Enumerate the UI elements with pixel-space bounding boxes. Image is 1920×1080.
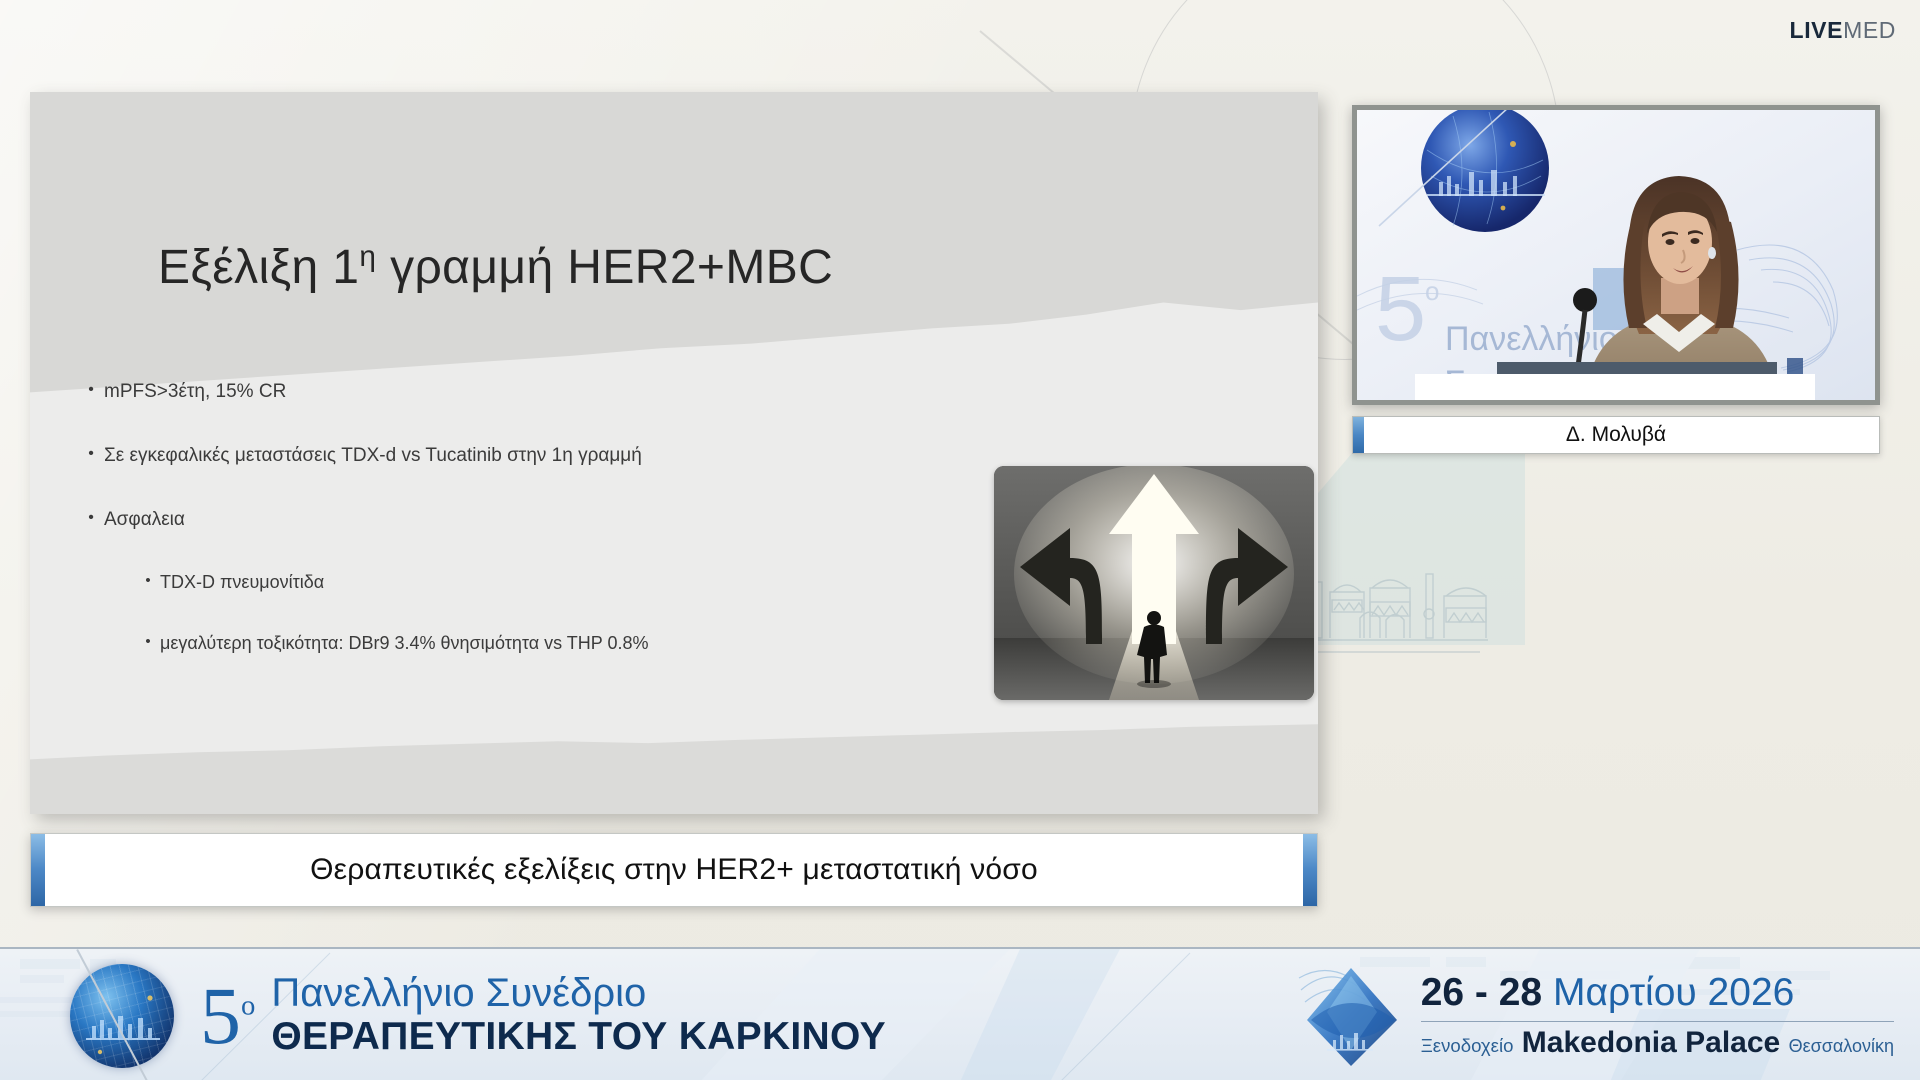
banner-date-month-year: Μαρτίου 2026: [1553, 971, 1794, 1014]
sub-bullet-text: TDX-D πνευμονίτιδα: [160, 571, 324, 594]
three-arrows-choice-photo: [994, 466, 1314, 700]
bullet-marker: •: [78, 508, 104, 529]
banner-venue: Ξενοδοχείο Makedonia Palace Θεσσαλονίκη: [1421, 1027, 1894, 1059]
slide-title: Εξέλιξη 1η γραμμή HER2+MBC: [158, 240, 833, 295]
diamond-wave-icon: [1297, 962, 1405, 1070]
banner-venue-prefix: Ξενοδοχείο: [1421, 1035, 1514, 1056]
speaker-video-still: 5 o Πανελλήνιο Συνέδριο: [1357, 110, 1875, 400]
banner-dates: 26 - 28 Μαρτίου 2026: [1421, 972, 1894, 1015]
banner-line-1: Πανελλήνιο Συνέδριο: [271, 972, 886, 1014]
bullet-text: Σε εγκεφαλικές μεταστάσεις TDX-d vs Tuca…: [104, 444, 642, 468]
speaker-nameplate: Δ. Μολυβά: [1352, 416, 1880, 454]
banner-ordinal: 5o: [200, 977, 255, 1055]
banner-venue-city: Θεσσαλονίκη: [1789, 1036, 1894, 1056]
bullet-text: mPFS>3έτη, 15% CR: [104, 380, 286, 404]
slide-footer-torn-band: [30, 684, 1318, 814]
banner-left-group: 5o Πανελλήνιο Συνέδριο ΘΕΡΑΠΕΥΤΙΚΗΣ ΤΟΥ …: [70, 949, 886, 1080]
bullet-item: • Σε εγκεφαλικές μεταστάσεις TDX-d vs Tu…: [78, 444, 848, 468]
bullet-marker: •: [78, 444, 104, 465]
presentation-slide[interactable]: Εξέλιξη 1η γραμμή HER2+MBC • mPFS>3έτη, …: [30, 92, 1318, 814]
bullet-item: • mPFS>3έτη, 15% CR: [78, 380, 848, 404]
banner-text-block: Πανελλήνιο Συνέδριο ΘΕΡΑΠΕΥΤΙΚΗΣ ΤΟΥ ΚΑΡ…: [271, 972, 886, 1059]
banner-date-venue-block: 26 - 28 Μαρτίου 2026 Ξενοδοχείο Makedoni…: [1421, 972, 1894, 1058]
sub-bullet-item: • μεγαλύτερη τοξικότητα: DBr9 3.4% θνησι…: [136, 632, 848, 655]
speaker-video-panel[interactable]: 5 o Πανελλήνιο Συνέδριο: [1352, 105, 1880, 405]
speaker-video-frame[interactable]: 5 o Πανελλήνιο Συνέδριο: [1357, 110, 1875, 400]
banner-venue-name: Makedonia Palace: [1522, 1026, 1780, 1059]
bullet-marker: •: [136, 571, 160, 591]
banner-ordinal-superscript: o: [241, 989, 255, 1021]
banner-ordinal-number: 5: [200, 970, 241, 1061]
conference-banner: 5o Πανελλήνιο Συνέδριο ΘΕΡΑΠΕΥΤΙΚΗΣ ΤΟΥ …: [0, 947, 1920, 1080]
session-title-bar: Θεραπευτικές εξελίξεις στην HER2+ μεταστ…: [30, 833, 1318, 907]
svg-text:Πανελλήνιο: Πανελλήνιο: [1445, 320, 1618, 358]
banner-line-2: ΘΕΡΑΠΕΥΤΙΚΗΣ ΤΟΥ ΚΑΡΚΙΝΟΥ: [271, 1016, 886, 1059]
sub-bullet-item: • TDX-D πνευμονίτιδα: [136, 571, 848, 594]
slide-bullet-list: • mPFS>3έτη, 15% CR • Σε εγκεφαλικές μετ…: [78, 380, 848, 692]
slide-title-superscript: η: [359, 240, 376, 273]
slide-title-part1: Εξέλιξη 1: [158, 241, 359, 294]
banner-divider: [1421, 1021, 1894, 1022]
globe-detail-icon: [70, 964, 174, 1068]
svg-text:o: o: [1425, 276, 1439, 306]
three-arrows-illustration: [994, 466, 1314, 700]
bullet-text: Ασφαλεια: [104, 508, 185, 532]
bullet-marker: •: [136, 632, 160, 652]
banner-right-group: 26 - 28 Μαρτίου 2026 Ξενοδοχείο Makedoni…: [1297, 949, 1894, 1080]
slide-title-part2: γραμμή HER2+MBC: [376, 241, 833, 294]
bullet-item: • Ασφαλεια: [78, 508, 848, 532]
bullet-marker: •: [78, 380, 104, 401]
banner-diamond-logo: [1297, 962, 1405, 1070]
skyline-watermark-icon: [1300, 552, 1560, 672]
speaker-name: Δ. Μολυβά: [1566, 423, 1666, 447]
livemed-logo: LIVEMED: [1790, 17, 1896, 44]
session-title-text: Θεραπευτικές εξελίξεις στην HER2+ μεταστ…: [310, 853, 1038, 887]
livemed-logo-med: MED: [1843, 17, 1896, 44]
sub-bullet-text: μεγαλύτερη τοξικότητα: DBr9 3.4% θνησιμό…: [160, 632, 649, 655]
svg-text:5: 5: [1375, 258, 1426, 360]
banner-date-days: 26 - 28: [1421, 971, 1542, 1014]
conference-globe-logo: [70, 964, 174, 1068]
livemed-logo-live: LIVE: [1790, 17, 1844, 44]
